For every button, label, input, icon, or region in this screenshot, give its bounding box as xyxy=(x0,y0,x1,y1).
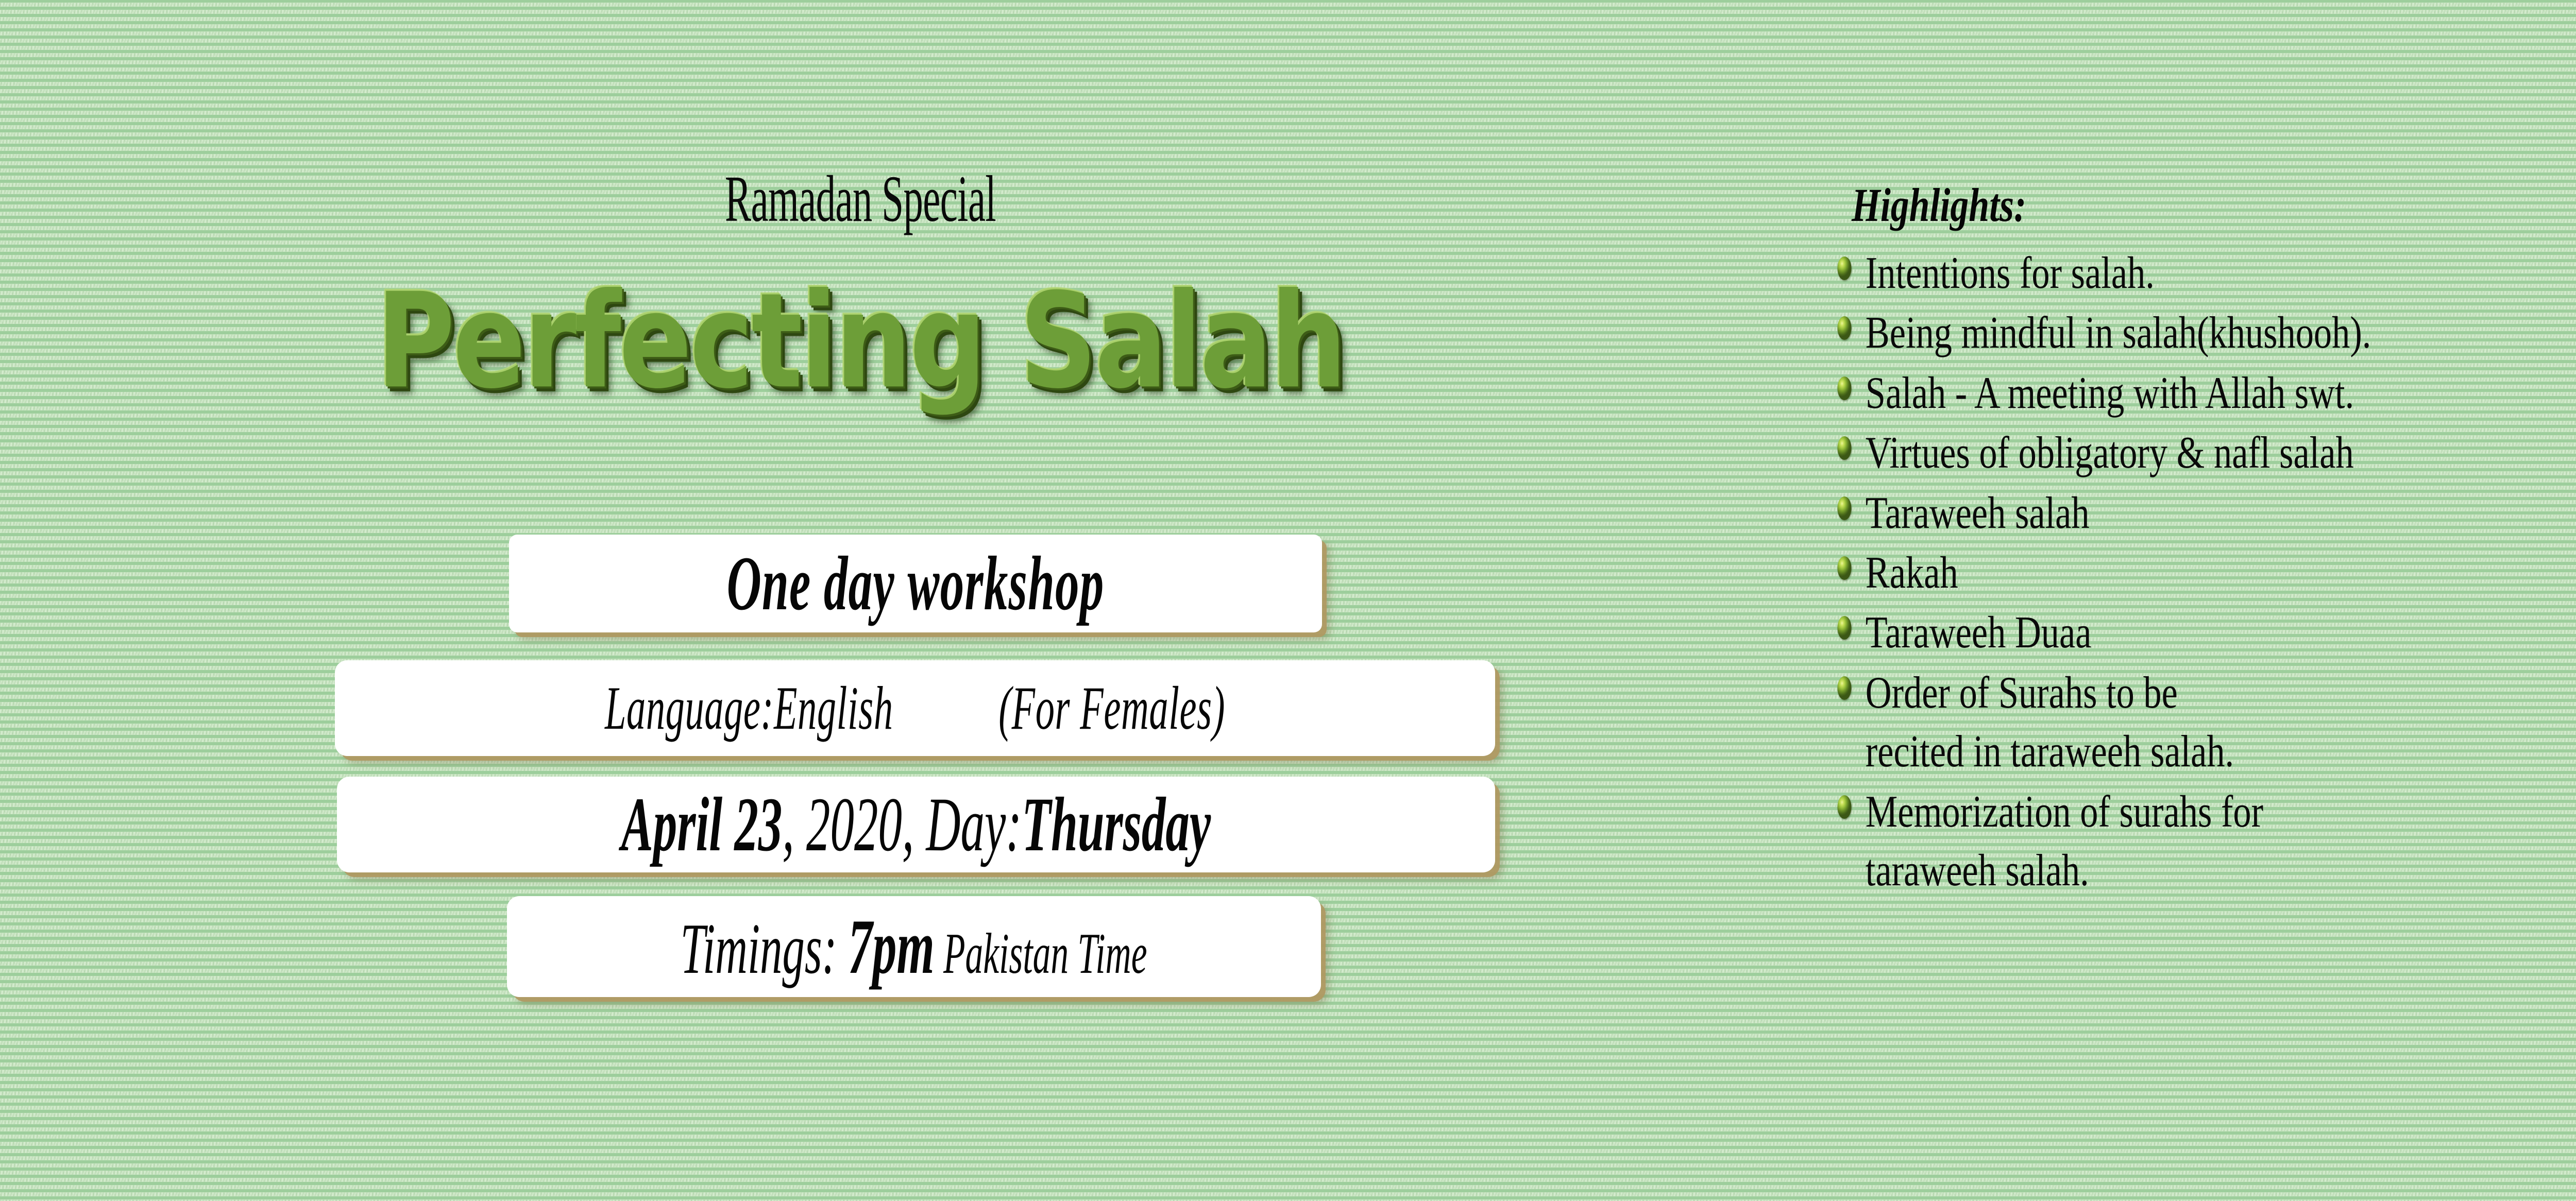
flyer-canvas: Ramadan Special Perfecting Salah One day… xyxy=(0,0,2576,1201)
bullet-sphere-icon xyxy=(1837,316,1851,340)
list-item-label: Order of Surahs to be recited in tarawee… xyxy=(1866,668,2234,777)
workshop-label: One day workshop xyxy=(727,545,1105,622)
bullet-sphere-icon xyxy=(1837,676,1851,700)
headline-perfecting-salah: Perfecting Salah xyxy=(0,276,1807,407)
date-weekday: Thursday xyxy=(1022,782,1211,867)
bullet-sphere-icon xyxy=(1837,376,1851,400)
info-plate-workshop: One day workshop xyxy=(509,535,1322,632)
timings-line: Timings: 7pm Pakistan Time xyxy=(681,907,1147,986)
audience-label: (For Females) xyxy=(998,674,1225,742)
bullet-sphere-icon xyxy=(1837,556,1851,580)
list-item-label: Rakah xyxy=(1866,548,1958,598)
list-item-label: Memorization of surahs for taraweeh sala… xyxy=(1866,787,2263,896)
list-item: Taraweeh Duaa xyxy=(1834,604,2477,662)
date-year-label: , 2020, Day: xyxy=(782,782,1022,867)
list-item: Virtues of obligatory & nafl salah xyxy=(1834,424,2477,483)
date-day-month: April 23 xyxy=(621,782,783,867)
bullet-sphere-icon xyxy=(1837,256,1851,280)
list-item: Order of Surahs to be recited in tarawee… xyxy=(1834,664,2477,782)
highlights-list: Intentions for salah.Being mindful in sa… xyxy=(1834,244,2576,900)
bullet-sphere-icon xyxy=(1837,496,1851,520)
timings-value: 7pm xyxy=(849,903,935,990)
list-item-label: Salah - A meeting with Allah swt. xyxy=(1866,368,2354,418)
list-item-label: Intentions for salah. xyxy=(1866,248,2155,298)
list-item-label: Taraweeh Duaa xyxy=(1866,608,2092,658)
date-line: April 23, 2020, Day:Thursday xyxy=(621,786,1211,863)
timings-timezone: Pakistan Time xyxy=(935,922,1147,986)
list-item-label: Taraweeh salah xyxy=(1866,488,2090,538)
timings-label: Timings: xyxy=(681,909,849,989)
list-item: Memorization of surahs for taraweeh sala… xyxy=(1834,783,2477,901)
list-item: Taraweeh salah xyxy=(1834,484,2477,543)
list-item: Salah - A meeting with Allah swt. xyxy=(1834,364,2477,423)
highlights-title: Highlights: xyxy=(1852,181,2465,229)
bullet-sphere-icon xyxy=(1837,795,1851,819)
list-item-label: Being mindful in salah(khushooh). xyxy=(1866,308,2371,358)
list-item: Intentions for salah. xyxy=(1834,244,2477,303)
info-plate-language: Language:English(For Females) xyxy=(335,660,1495,756)
highlights-panel: Highlights: Intentions for salah.Being m… xyxy=(1834,181,2576,901)
kicker-ramadan-special: Ramadan Special xyxy=(344,166,1377,232)
info-plate-date: April 23, 2020, Day:Thursday xyxy=(337,777,1495,872)
list-item: Rakah xyxy=(1834,544,2477,603)
bullet-sphere-icon xyxy=(1837,616,1851,640)
info-plate-timings: Timings: 7pm Pakistan Time xyxy=(507,896,1321,997)
list-item: Being mindful in salah(khushooh). xyxy=(1834,304,2477,363)
language-label: Language:English xyxy=(605,674,893,742)
list-item-label: Virtues of obligatory & nafl salah xyxy=(1866,428,2354,478)
bullet-sphere-icon xyxy=(1837,436,1851,460)
language-line: Language:English(For Females) xyxy=(605,677,1225,739)
